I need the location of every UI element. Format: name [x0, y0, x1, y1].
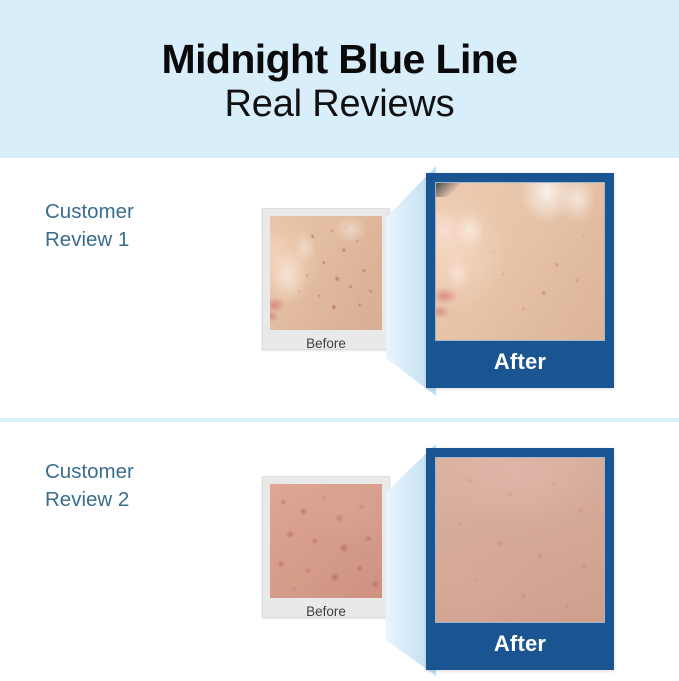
photo-corner-shadow — [436, 183, 460, 197]
after-photo-1 — [435, 182, 605, 341]
before-caption-2: Before — [270, 598, 382, 626]
after-card-1[interactable]: After — [426, 173, 614, 388]
page-title: Midnight Blue Line — [162, 37, 518, 81]
skin-highlight-layer — [270, 484, 382, 598]
skin-facial-feature-layer — [270, 216, 382, 330]
after-caption-2: After — [426, 624, 614, 664]
after-caption-1: After — [426, 342, 614, 382]
before-photo-1 — [270, 216, 382, 330]
review-label-1: Customer Review 1 — [45, 198, 134, 254]
skin-facial-feature-layer — [436, 183, 604, 340]
review-row: Customer Review 1 Before — [0, 158, 679, 410]
before-card-1[interactable]: Before — [262, 208, 390, 350]
review-row: Customer Review 2 Before After — [0, 422, 679, 679]
page-subtitle: Real Reviews — [225, 82, 455, 127]
skin-highlight-layer — [436, 458, 604, 622]
before-photo-2 — [270, 484, 382, 598]
review-label-2: Customer Review 2 — [45, 458, 134, 514]
before-card-2[interactable]: Before — [262, 476, 390, 618]
after-photo-2 — [435, 457, 605, 623]
header-band: Midnight Blue Line Real Reviews — [0, 0, 679, 158]
before-caption-1: Before — [270, 330, 382, 358]
after-card-2[interactable]: After — [426, 448, 614, 670]
